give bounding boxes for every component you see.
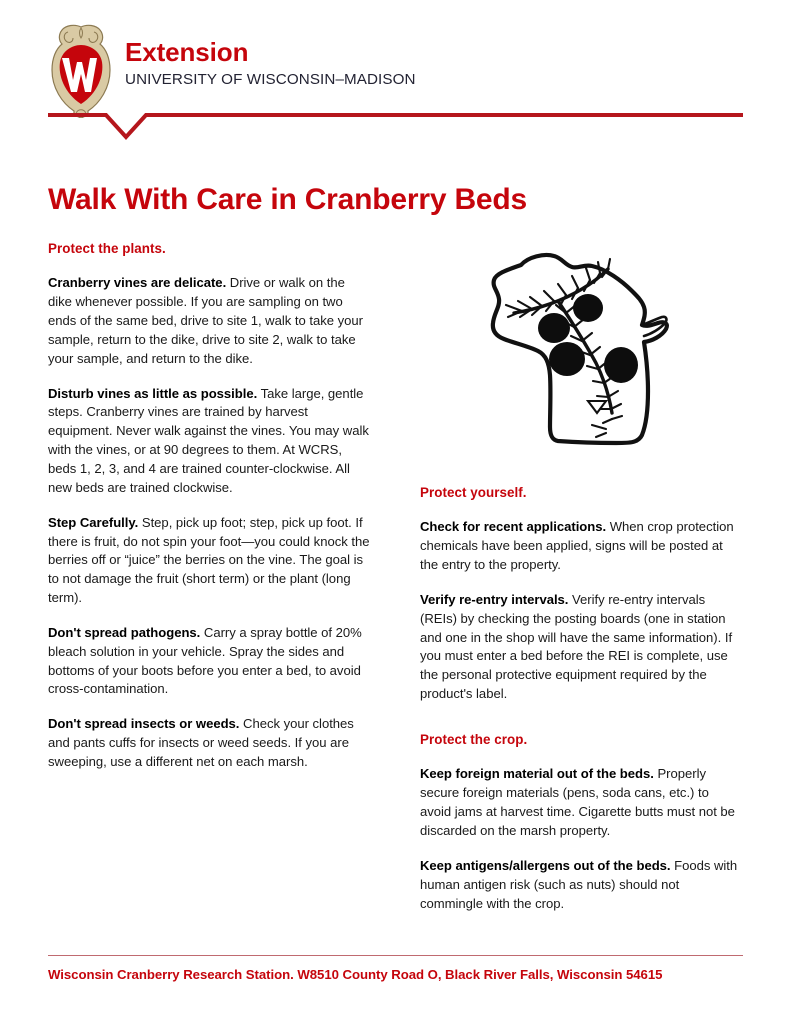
paragraph-disturb-vines: Disturb vines as little as possible. Tak…	[48, 385, 371, 498]
footer-divider	[48, 955, 743, 956]
section-heading-protect-yourself: Protect yourself.	[420, 484, 743, 501]
paragraph-verify-re-entry-intervals: Verify re-entry intervals. Verify re-ent…	[420, 591, 743, 704]
brand-lockup: Extension UNIVERSITY OF WISCONSIN–MADISO…	[48, 22, 416, 118]
paragraph-lead: Don't spread pathogens.	[48, 625, 200, 640]
uw-crest-logo	[48, 22, 114, 118]
paragraph-body: Verify re-entry intervals (REIs) by chec…	[420, 592, 732, 701]
paragraph-lead: Cranberry vines are delicate.	[48, 275, 226, 290]
footer-address: Wisconsin Cranberry Research Station. W8…	[48, 966, 662, 983]
section-heading-protect-the-crop: Protect the crop.	[420, 731, 743, 748]
paragraph-dont-spread-pathogens: Don't spread pathogens. Carry a spray bo…	[48, 624, 371, 699]
wisconsin-cranberry-illustration	[466, 243, 688, 455]
paragraph-keep-foreign-material-out: Keep foreign material out of the beds. P…	[420, 765, 743, 840]
brand-subtitle: UNIVERSITY OF WISCONSIN–MADISON	[125, 72, 416, 87]
paragraph-lead: Keep antigens/allergens out of the beds.	[420, 858, 671, 873]
document-page: Extension UNIVERSITY OF WISCONSIN–MADISO…	[0, 0, 791, 1024]
paragraph-lead: Disturb vines as little as possible.	[48, 386, 257, 401]
paragraph-body: Take large, gentle steps. Cranberry vine…	[48, 386, 369, 495]
paragraph-lead: Don't spread insects or weeds.	[48, 716, 239, 731]
left-column: Protect the plants. Cranberry vines are …	[48, 240, 371, 772]
page-title: Walk With Care in Cranberry Beds	[48, 182, 527, 217]
paragraph-cranberry-vines-are-delicate: Cranberry vines are delicate. Drive or w…	[48, 274, 371, 368]
right-column: Protect yourself. Check for recent appli…	[420, 484, 743, 913]
paragraph-keep-antigens-allergens-out: Keep antigens/allergens out of the beds.…	[420, 857, 743, 914]
brand-text-block: Extension UNIVERSITY OF WISCONSIN–MADISO…	[125, 22, 416, 87]
section-heading-protect-the-plants: Protect the plants.	[48, 240, 371, 257]
paragraph-check-for-recent-applications: Check for recent applications. When crop…	[420, 518, 743, 575]
paragraph-dont-spread-insects-or-weeds: Don't spread insects or weeds. Check you…	[48, 715, 371, 772]
paragraph-lead: Keep foreign material out of the beds.	[420, 766, 654, 781]
brand-title: Extension	[125, 39, 416, 65]
paragraph-lead: Check for recent applications.	[420, 519, 606, 534]
paragraph-step-carefully: Step Carefully. Step, pick up foot; step…	[48, 514, 371, 608]
paragraph-lead: Verify re-entry intervals.	[420, 592, 568, 607]
paragraph-lead: Step Carefully.	[48, 515, 138, 530]
